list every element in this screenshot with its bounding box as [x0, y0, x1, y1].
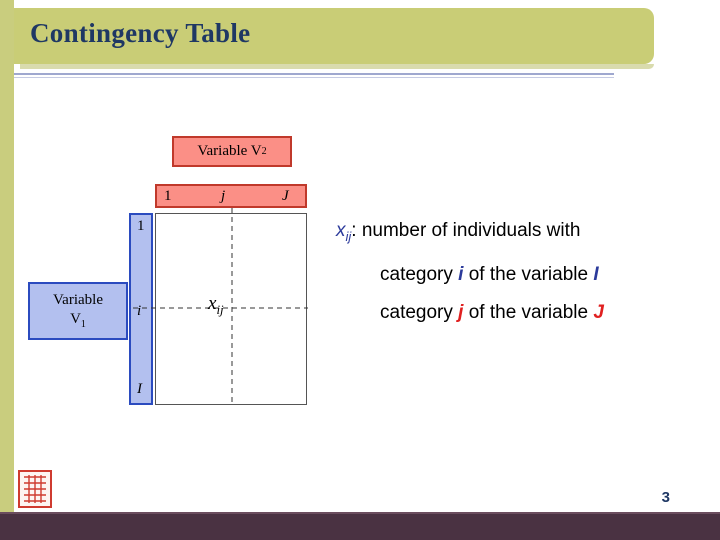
- explanation-line-3-variable: J: [593, 302, 604, 323]
- column-header-j: j: [221, 188, 225, 205]
- explanation-line-3: category j of the variable J: [336, 294, 706, 332]
- explanation-line-1-text: number of individuals with: [362, 220, 581, 241]
- variable-v2-box: Variable V2: [172, 136, 292, 167]
- seal-logo-icon: [18, 470, 52, 508]
- row-header-last: I: [137, 381, 142, 398]
- explanation-line-2-pre: category: [380, 264, 453, 285]
- explanation-line-1: xij: number of individuals with: [336, 212, 706, 256]
- variable-v1-label-second-line: V1: [70, 310, 86, 332]
- explanation-line-3-index: j: [458, 302, 463, 323]
- variable-v1-box: Variable V1: [28, 282, 128, 340]
- explanation-line-2-index: i: [458, 264, 463, 285]
- column-header-strip: 1 j J: [155, 184, 307, 208]
- cell-value-label: xij: [208, 293, 224, 318]
- explanation-colon: :: [351, 220, 356, 241]
- explanation-line-3-pre: category: [380, 302, 453, 323]
- column-header-last: J: [282, 188, 289, 205]
- variable-v2-label: Variable V: [197, 143, 261, 160]
- row-header-i: i: [137, 303, 141, 320]
- explanation-symbol: xij: [336, 220, 351, 241]
- explanation-line-2: category i of the variable I: [336, 256, 706, 294]
- explanation-line-3-mid: of the variable: [469, 302, 588, 323]
- page-number: 3: [662, 489, 670, 506]
- explanation-line-2-variable: I: [593, 264, 598, 285]
- row-header-first: 1: [137, 218, 145, 235]
- column-header-first: 1: [164, 188, 172, 205]
- row-header-strip: 1 i I: [129, 213, 153, 405]
- explanation-line-2-mid: of the variable: [469, 264, 588, 285]
- variable-v1-label: Variable: [53, 291, 103, 310]
- bottom-band: [0, 514, 720, 540]
- variable-v2-subscript: 2: [262, 146, 267, 157]
- table-grid: [155, 213, 307, 405]
- explanation-text: xij: number of individuals with category…: [336, 212, 706, 332]
